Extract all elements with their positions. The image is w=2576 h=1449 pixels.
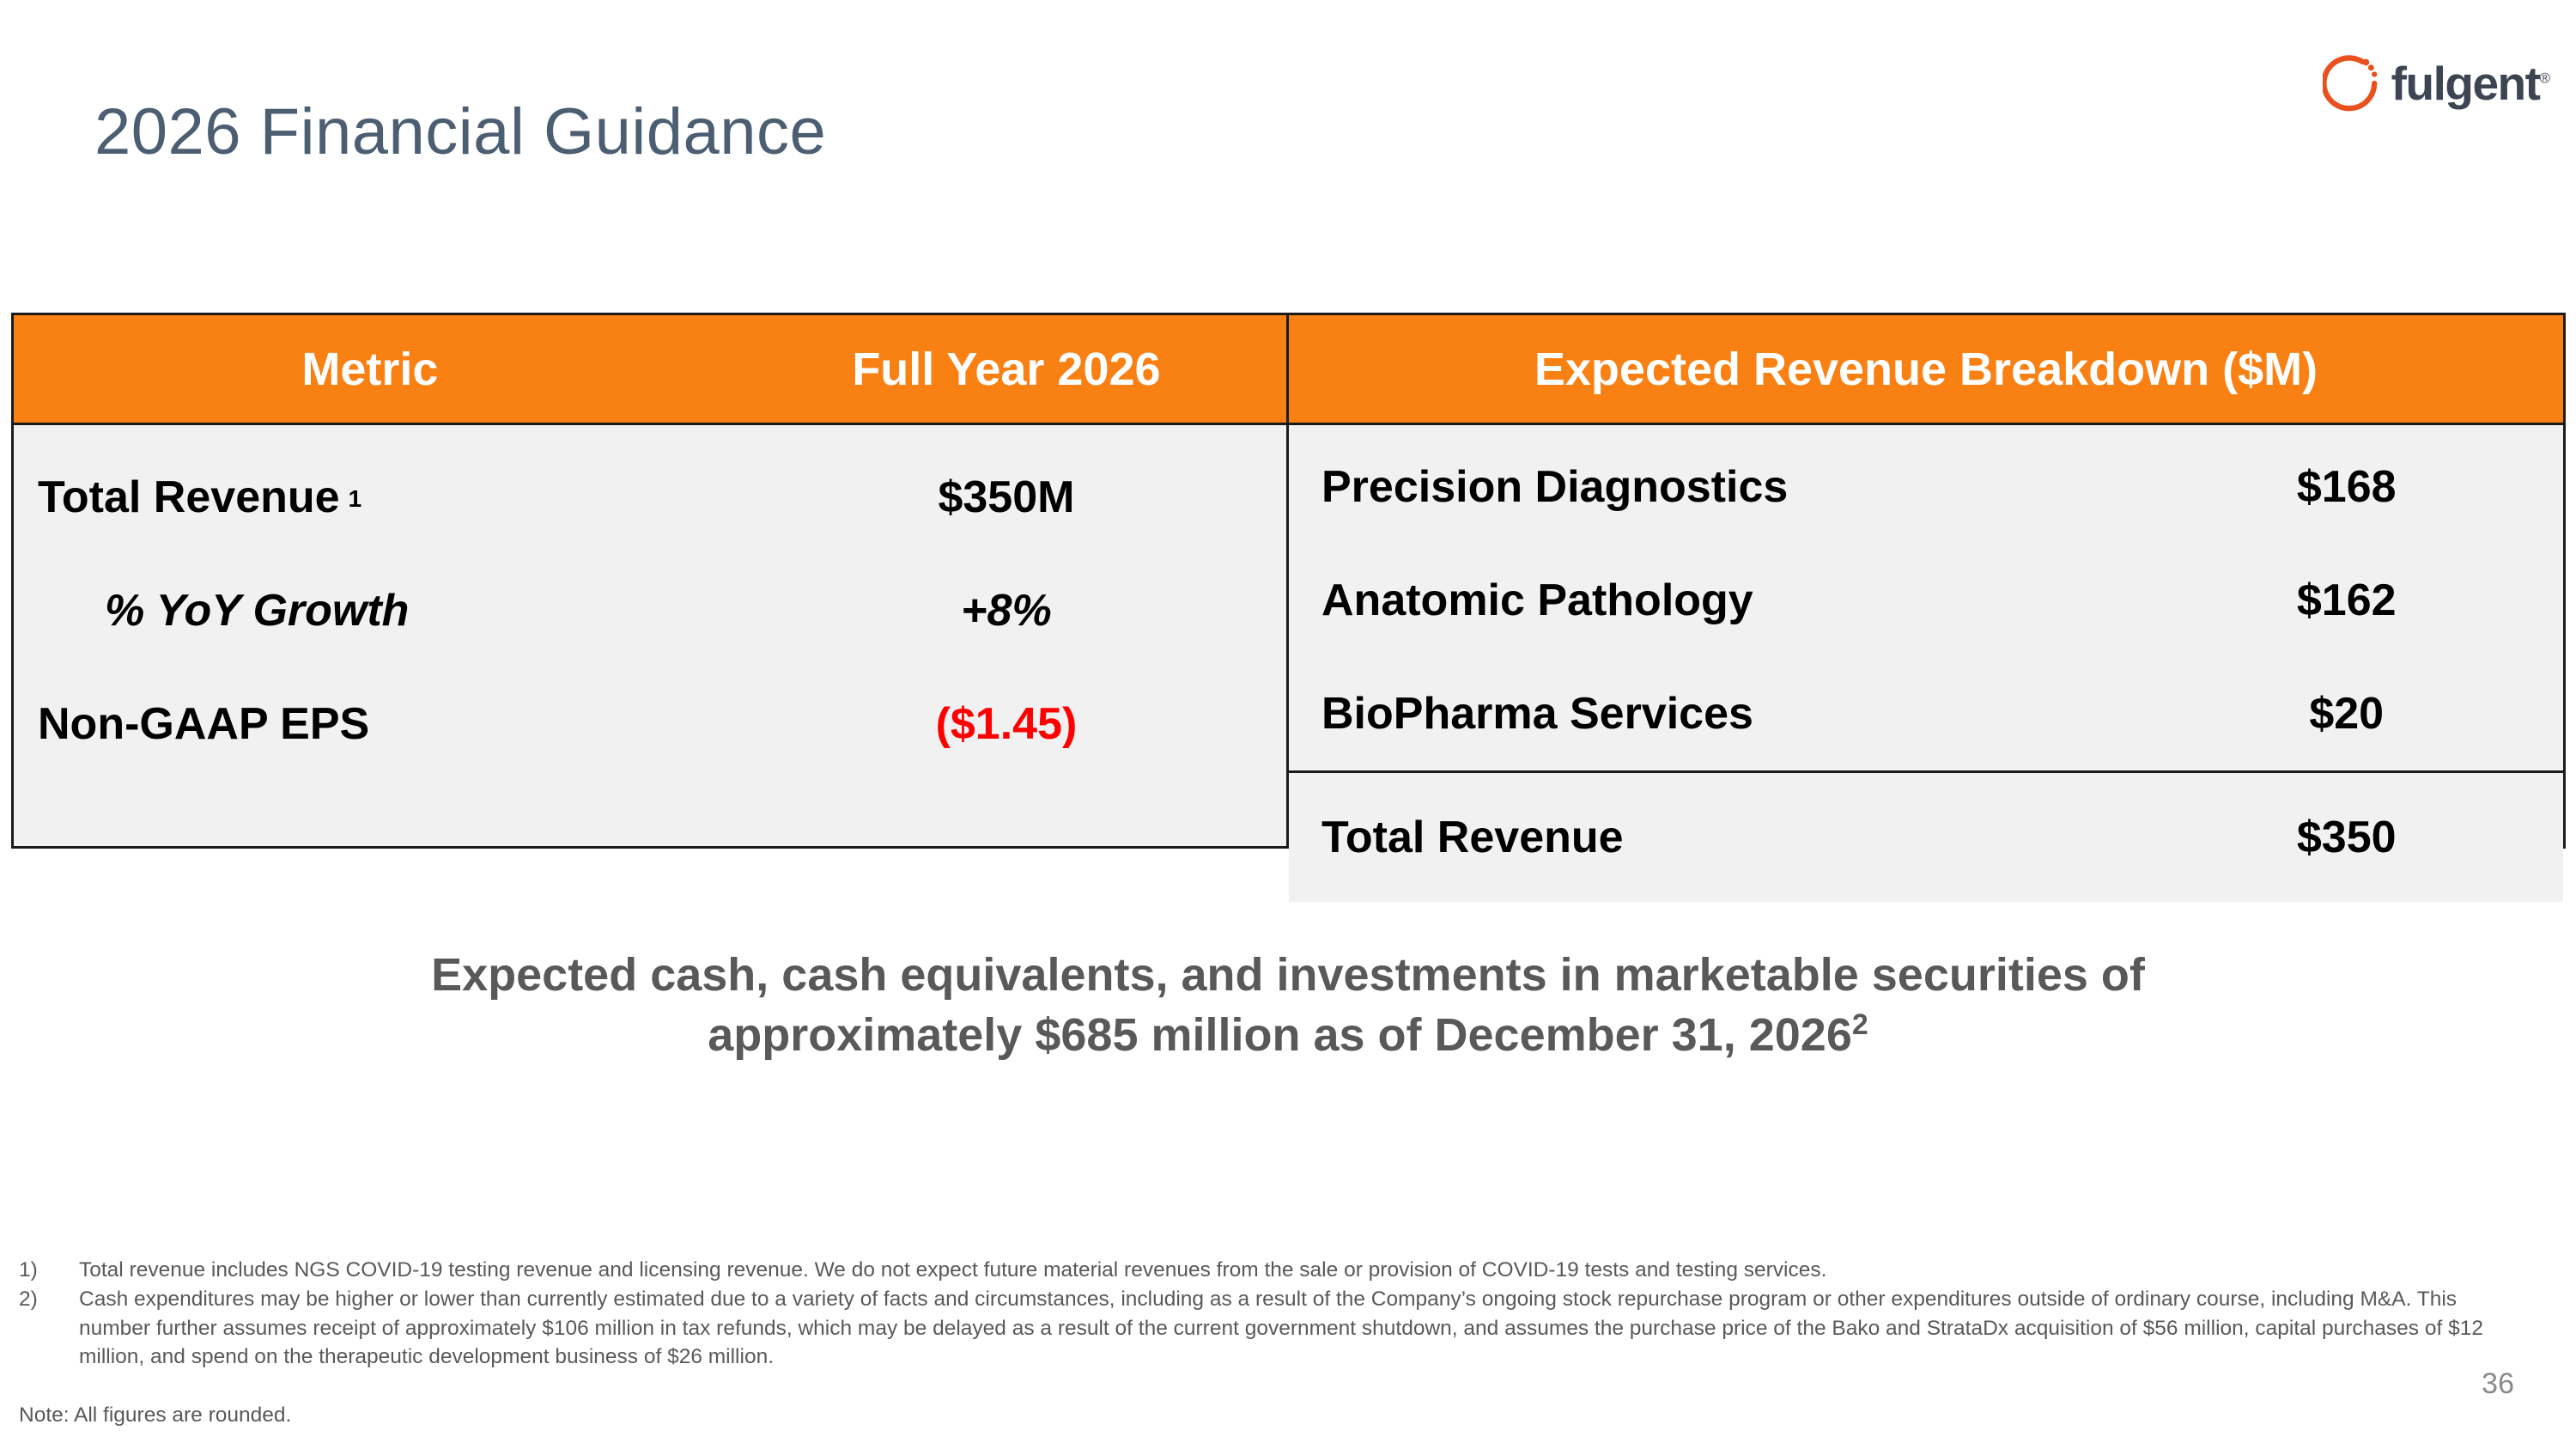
metric-label-total-revenue: Total Revenue <box>38 472 340 522</box>
breakdown-value-biopharma-services: $20 <box>2129 688 2563 740</box>
metric-row-label-cell: Non-GAAP EPS <box>14 698 726 750</box>
revenue-breakdown-panel: Expected Revenue Breakdown ($M) Precisio… <box>1286 315 2563 846</box>
cash-statement-line-2-wrap: approximately $685 million as of Decembe… <box>258 1005 2318 1065</box>
metric-value-total-revenue: $350M <box>726 472 1286 523</box>
table-row: % YoY Growth +8% <box>14 554 1286 667</box>
revenue-breakdown-body: Precision Diagnostics $168 Anatomic Path… <box>1289 425 2563 902</box>
registered-trademark-icon: ® <box>2539 70 2550 86</box>
footnote-text-2: Cash expenditures may be higher or lower… <box>79 1285 2492 1372</box>
footnote-text-1: Total revenue includes NGS COVID-19 test… <box>79 1256 2492 1285</box>
breakdown-label-precision-diagnostics: Precision Diagnostics <box>1289 461 2129 513</box>
rounding-note: Note: All figures are rounded. <box>19 1403 291 1428</box>
footnote-marker-1: 1 <box>349 485 362 512</box>
footnote-item: 2) Cash expenditures may be higher or lo… <box>19 1285 2492 1372</box>
table-row: Anatomic Pathology $162 <box>1289 544 2563 657</box>
metric-label-yoy-growth: % YoY Growth <box>38 586 409 636</box>
column-header-metric: Metric <box>14 346 726 393</box>
footnote-number-1: 1) <box>19 1256 79 1285</box>
table-row: BioPharma Services $20 <box>1289 657 2563 770</box>
cash-statement: Expected cash, cash equivalents, and inv… <box>258 945 2318 1065</box>
column-header-revenue-breakdown: Expected Revenue Breakdown ($M) <box>1289 346 2563 393</box>
guidance-table: Metric Full Year 2026 Total Revenue1 $35… <box>11 313 2566 849</box>
footnote-marker-2: 2 <box>1852 1008 1868 1041</box>
metric-row-label-cell: Total Revenue1 <box>14 472 726 523</box>
page-title: 2026 Financial Guidance <box>94 94 826 169</box>
fulgent-circle-icon <box>2323 53 2383 113</box>
metric-value-yoy-growth: +8% <box>726 585 1286 636</box>
revenue-breakdown-header: Expected Revenue Breakdown ($M) <box>1289 315 2563 425</box>
metric-panel-body: Total Revenue1 $350M % YoY Growth +8% No… <box>14 425 1286 846</box>
metric-row-label-cell: % YoY Growth <box>14 585 726 636</box>
metric-label-non-gaap-eps: Non-GAAP EPS <box>38 699 369 749</box>
cash-statement-line-1: Expected cash, cash equivalents, and inv… <box>258 945 2318 1005</box>
fulgent-wordmark: fulgent® <box>2391 60 2550 107</box>
table-row: Total Revenue1 $350M <box>14 441 1286 554</box>
metric-panel-header: Metric Full Year 2026 <box>14 315 1286 425</box>
cash-statement-line-2: approximately $685 million as of Decembe… <box>708 1009 1852 1061</box>
footnote-number-2: 2) <box>19 1285 79 1314</box>
footnote-item: 1) Total revenue includes NGS COVID-19 t… <box>19 1256 2492 1285</box>
fulgent-wordmark-text: fulgent <box>2391 57 2540 110</box>
metric-value-non-gaap-eps: ($1.45) <box>726 698 1286 750</box>
breakdown-label-total-revenue: Total Revenue <box>1289 812 2129 863</box>
footnotes: 1) Total revenue includes NGS COVID-19 t… <box>19 1256 2492 1372</box>
breakdown-label-anatomic-pathology: Anatomic Pathology <box>1289 575 2129 626</box>
table-row: Non-GAAP EPS ($1.45) <box>14 667 1286 781</box>
metric-panel: Metric Full Year 2026 Total Revenue1 $35… <box>14 315 1286 846</box>
column-header-full-year: Full Year 2026 <box>726 346 1286 393</box>
breakdown-value-precision-diagnostics: $168 <box>2129 461 2563 513</box>
breakdown-value-total-revenue: $350 <box>2129 812 2563 863</box>
table-row: Precision Diagnostics $168 <box>1289 430 2563 544</box>
table-row-total: Total Revenue $350 <box>1289 770 2563 902</box>
page-number: 36 <box>2482 1367 2514 1401</box>
breakdown-label-biopharma-services: BioPharma Services <box>1289 688 2129 740</box>
fulgent-logo: fulgent® <box>2323 53 2550 113</box>
breakdown-value-anatomic-pathology: $162 <box>2129 575 2563 626</box>
